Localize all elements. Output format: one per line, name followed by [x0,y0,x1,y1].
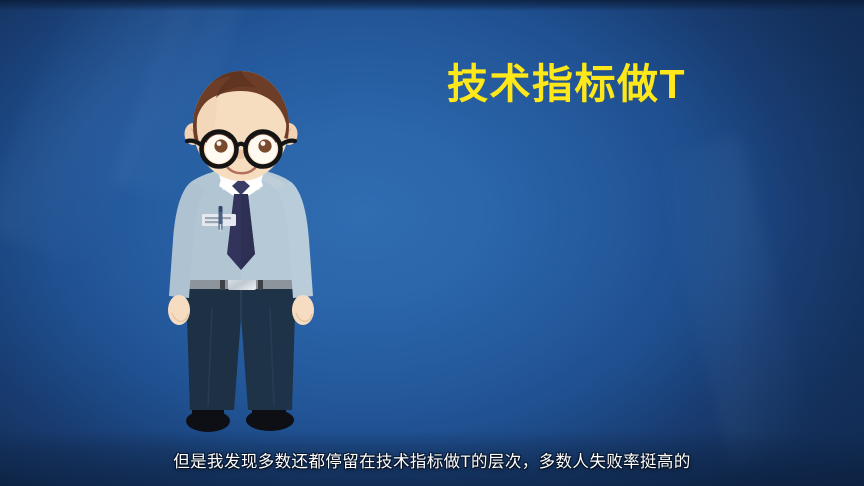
subtitle-caption: 但是我发现多数还都停留在技术指标做T的层次，多数人失败率挺高的 [0,448,864,472]
character-hand-right [292,295,314,325]
page-title: 技术指标做T [447,62,686,108]
top-edge-band [0,0,864,11]
video-frame: 技术指标做T 但是我发现多数还都停留在技术指标做T的层次，多数人失败率挺高的 [0,0,864,486]
character-hand-left [168,295,190,325]
background-vignette [0,0,864,486]
character-legs [186,282,296,432]
character-trouser-leg-left [186,282,241,410]
character-illustration [160,58,322,442]
character-head [187,67,295,183]
